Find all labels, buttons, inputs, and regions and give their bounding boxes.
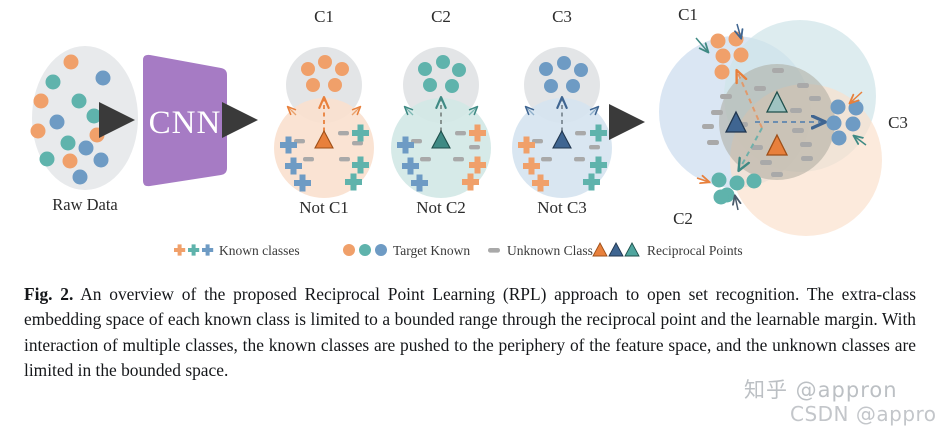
panel-c2: C2	[391, 7, 491, 217]
cnn-label: CNN	[149, 105, 222, 141]
final-label-c1: C1	[678, 5, 698, 24]
panel-c1-bottom-label: Not C1	[299, 198, 349, 217]
figure-caption-label: Fig. 2.	[24, 284, 73, 304]
final-label-c3: C3	[888, 113, 908, 132]
legend-item-target-known: Target Known	[343, 243, 470, 258]
panel-c3: C3	[512, 7, 612, 217]
legend-label-target-known: Target Known	[393, 243, 470, 258]
figure-caption-text: An overview of the proposed Reciprocal P…	[24, 284, 916, 380]
figure-diagram: Raw Data CNN C1	[0, 0, 938, 268]
panel-c1-top-label: C1	[314, 7, 334, 26]
legend-label-unknown-class: Unknown Class	[507, 243, 593, 258]
panel-c2-bottom-label: Not C2	[416, 198, 466, 217]
final-label-c2: C2	[673, 209, 693, 228]
legend-label-known-classes: Known classes	[219, 243, 300, 258]
legend-item-unknown-class: Unknown Class	[488, 243, 593, 258]
plus-icon	[174, 244, 213, 255]
dash-icon	[488, 248, 500, 253]
panel-c3-bottom-label: Not C3	[537, 198, 587, 217]
raw-data-group: Raw Data	[31, 46, 139, 214]
final-panel: C1 C2 C3	[659, 5, 908, 236]
panel-c1: C1	[274, 7, 374, 217]
cnn-block: CNN	[143, 55, 227, 186]
legend: Known classes Target Known Unknown Class	[174, 243, 743, 258]
raw-data-label: Raw Data	[52, 195, 118, 214]
circle-icon	[343, 244, 387, 256]
final-push-arrow-c2-bottom	[735, 196, 738, 210]
legend-label-reciprocal-points: Reciprocal Points	[647, 243, 743, 258]
legend-item-known-classes: Known classes	[174, 243, 300, 258]
legend-item-reciprocal-points: Reciprocal Points	[593, 243, 743, 258]
panel-c3-top-label: C3	[552, 7, 572, 26]
figure-caption: Fig. 2. An overview of the proposed Reci…	[24, 282, 916, 384]
figure-root: Raw Data CNN C1	[0, 0, 938, 436]
triangle-icon	[593, 243, 639, 256]
watermark-csdn: CSDN @appron	[790, 402, 938, 426]
panel-c2-top-label: C2	[431, 7, 451, 26]
